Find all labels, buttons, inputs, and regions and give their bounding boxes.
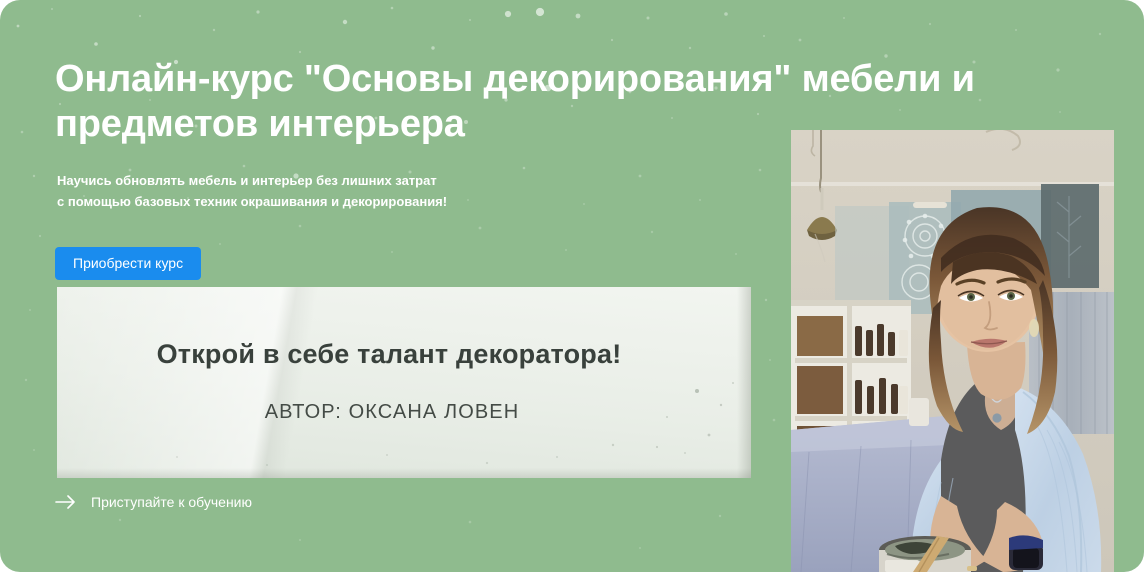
arrow-right-icon	[55, 494, 77, 510]
hero-left-column: Онлайн-курс "Основы декорирования" мебел…	[55, 0, 775, 572]
poster-bottom-shadow	[57, 468, 751, 478]
hero-card: Онлайн-курс "Основы декорирования" мебел…	[0, 0, 1144, 572]
instructor-photo	[791, 130, 1114, 572]
hero-subtitle: Научись обновлять мебель и интерьер без …	[57, 170, 617, 212]
screenshot-root: Онлайн-курс "Основы декорирования" мебел…	[0, 0, 1144, 572]
course-poster-image: Открой в себе талант декоратора! АВТОР: …	[57, 287, 751, 478]
poster-right-shadow	[737, 287, 751, 478]
buy-course-button[interactable]: Приобрести курс	[55, 247, 201, 280]
poster-author: АВТОР: ОКСАНА ЛОВЕН	[57, 401, 727, 424]
poster-paper-background	[57, 287, 751, 478]
start-learning-link[interactable]: Приступайте к обучению	[55, 494, 252, 510]
poster-headline: Открой в себе талант декоратора!	[57, 339, 721, 370]
start-learning-label: Приступайте к обучению	[91, 494, 252, 510]
